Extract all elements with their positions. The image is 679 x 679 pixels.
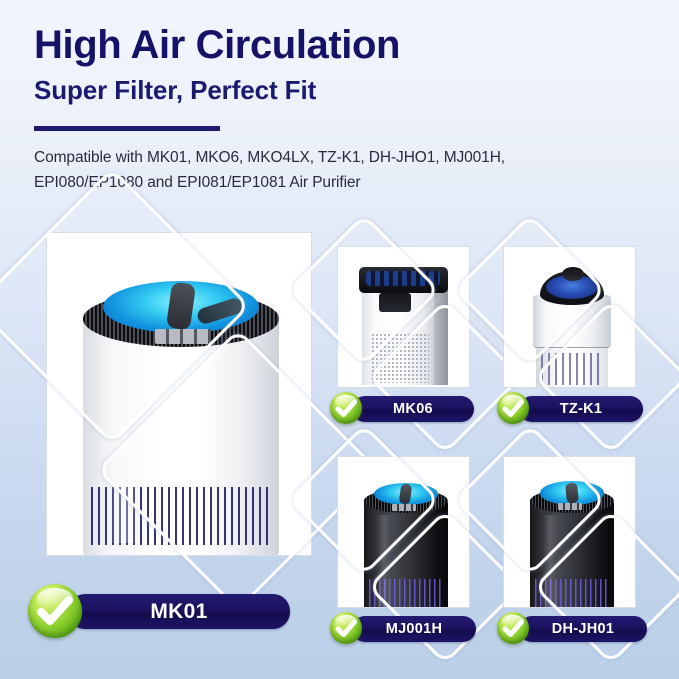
- badge-pill-tzk1: TZ-K1: [519, 396, 643, 422]
- body-highlight-mj001h: [376, 515, 392, 607]
- product-card-tzk1: [503, 246, 636, 388]
- top-vent-glow: [366, 271, 440, 286]
- badge-label-tzk1: TZ-K1: [560, 401, 603, 417]
- check-icon-mk06: [330, 392, 362, 424]
- control-buttons: [155, 329, 211, 344]
- badge-label-mj001h: MJ001H: [386, 621, 443, 637]
- header-block: High Air Circulation Super Filter, Perfe…: [34, 22, 654, 106]
- purifier-vents-tzk1: [541, 353, 603, 385]
- page-title: High Air Circulation: [34, 22, 654, 68]
- page-subtitle: Super Filter, Perfect Fit: [34, 74, 654, 106]
- control-buttons-dhjh01: [558, 503, 582, 510]
- badge-pill-dhjh01: DH-JH01: [519, 616, 647, 642]
- badge-pill-mk06: MK06: [352, 396, 474, 422]
- badge-pill-mk01: MK01: [68, 594, 290, 629]
- check-icon-mj001h: [330, 612, 362, 644]
- check-icon-mk01: [28, 584, 82, 638]
- purifier-side-panel: [434, 287, 448, 385]
- badge-tzk1: TZ-K1: [497, 392, 643, 426]
- product-photo-mk06: [338, 247, 469, 387]
- product-card-dhjh01: [503, 456, 636, 608]
- check-glyph: [330, 392, 362, 424]
- check-icon-tzk1: [497, 392, 529, 424]
- badge-label-mk06: MK06: [393, 401, 433, 417]
- product-photo-tzk1: [504, 247, 635, 387]
- badge-label-mk01: MK01: [150, 600, 207, 624]
- control-buttons-mj001h: [392, 504, 416, 511]
- check-glyph: [28, 584, 82, 638]
- product-card-mk01: [46, 232, 312, 556]
- fan-hub-icon: [562, 267, 584, 281]
- product-card-mk06: [337, 246, 470, 388]
- check-glyph: [330, 612, 362, 644]
- purifier-mesh: [371, 333, 429, 383]
- product-photo-dhjh01: [504, 457, 635, 607]
- check-glyph: [497, 392, 529, 424]
- product-card-mj001h: [337, 456, 470, 608]
- body-highlight: [107, 343, 141, 543]
- badge-mk06: MK06: [330, 392, 476, 426]
- display-panel: [379, 293, 411, 312]
- badge-dhjh01: DH-JH01: [497, 612, 647, 646]
- promo-image: High Air Circulation Super Filter, Perfe…: [0, 0, 679, 679]
- product-photo-mj001h: [338, 457, 469, 607]
- compatibility-line-2: EPI080/EP1080 and EPI081/EP1081 Air Puri…: [34, 170, 634, 195]
- check-glyph: [497, 612, 529, 644]
- fan-blade-icon-dhjh01: [565, 482, 579, 503]
- badge-mj001h: MJ001H: [330, 612, 476, 646]
- badge-mk01: MK01: [28, 580, 298, 636]
- check-icon-dhjh01: [497, 612, 529, 644]
- compatibility-line-1: Compatible with MK01, MKO6, MKO4LX, TZ-K…: [34, 145, 634, 170]
- title-divider: [34, 126, 220, 131]
- product-photo-mk01: [47, 233, 311, 555]
- compatibility-text: Compatible with MK01, MKO6, MKO4LX, TZ-K…: [34, 145, 634, 195]
- badge-pill-mj001h: MJ001H: [352, 616, 476, 642]
- badge-label-dhjh01: DH-JH01: [552, 621, 615, 637]
- body-highlight-dhjh01: [542, 515, 558, 607]
